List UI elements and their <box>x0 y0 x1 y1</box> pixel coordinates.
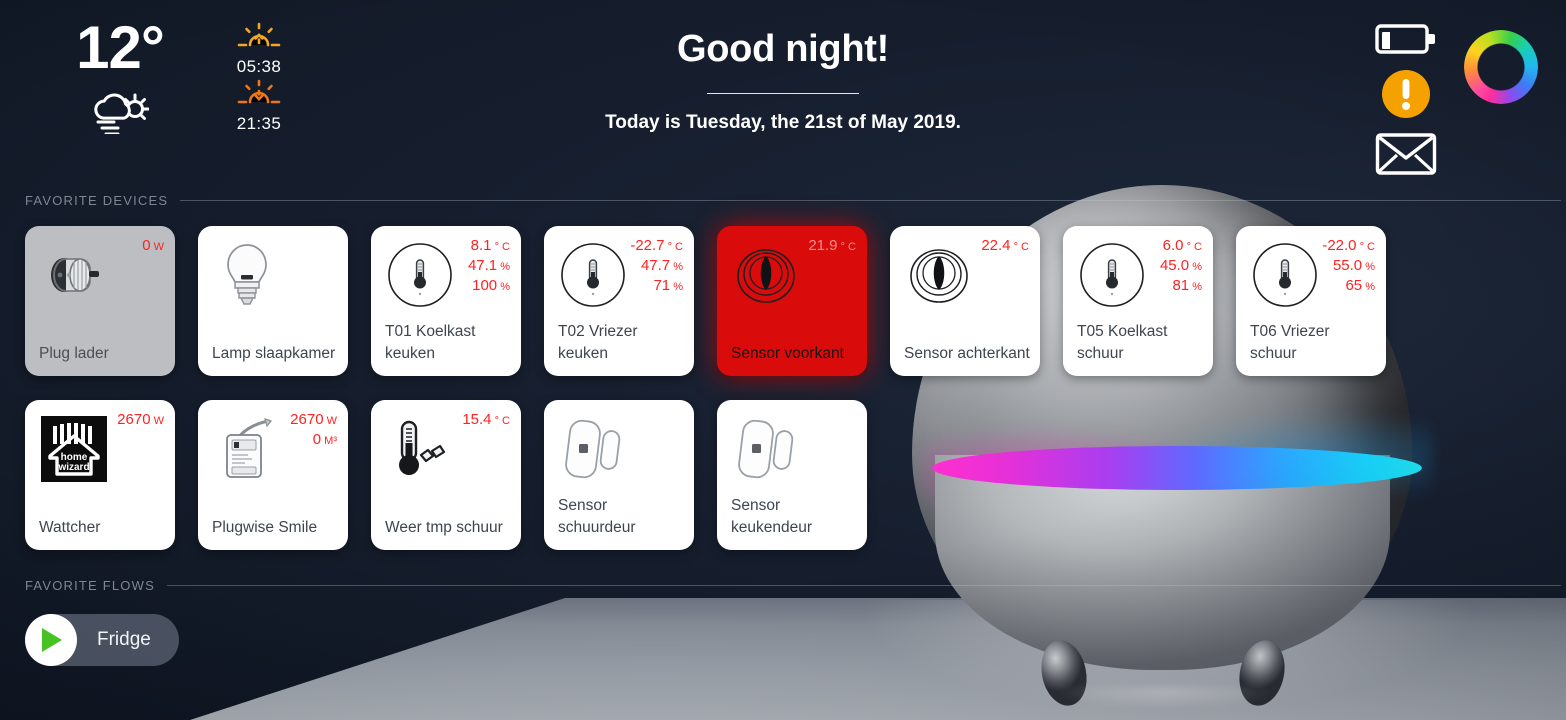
device-value: 0 M³ <box>290 430 337 450</box>
device-card-title: Sensor keukendeur <box>731 495 857 538</box>
favorite-devices-label: FAVORITE DEVICES <box>25 193 168 208</box>
device-value-unit: % <box>1362 281 1375 293</box>
favorite-devices-header: FAVORITE DEVICES <box>25 193 1561 208</box>
device-value: 71 % <box>630 276 683 296</box>
thermometer-icon <box>385 414 455 484</box>
device-value: 47.1 % <box>468 256 510 276</box>
dashboard-header: 12° <box>0 0 1566 188</box>
device-value-unit: % <box>1362 261 1375 273</box>
device-card-title: Lamp slaapkamer <box>212 343 338 364</box>
device-values: 8.1 ° C47.1 %100 % <box>468 236 510 295</box>
device-value: 2670 W <box>117 410 164 430</box>
device-card[interactable]: Lamp slaapkamer <box>198 226 348 376</box>
mail-icon[interactable] <box>1370 132 1442 176</box>
plugwise-smile-icon <box>212 414 282 484</box>
greeting-block: Good night! Today is Tuesday, the 21st o… <box>0 28 1566 134</box>
favorite-flows-header: FAVORITE FLOWS <box>25 578 1561 593</box>
device-value-unit: ° C <box>838 241 856 253</box>
device-card[interactable]: 22.4 ° CSensor achterkant <box>890 226 1040 376</box>
device-card-title: Wattcher <box>39 517 165 538</box>
device-card[interactable]: 6.0 ° C45.0 %81 %T05 Koelkast schuur <box>1063 226 1213 376</box>
homey-ring-logo-graphic <box>1464 30 1538 104</box>
favorite-devices-divider <box>180 200 1561 201</box>
motion-sensor-icon <box>731 240 801 310</box>
door-contact-sensor-icon <box>558 414 628 484</box>
device-values: 21.9 ° C <box>808 236 856 256</box>
device-value-unit: W <box>151 415 164 427</box>
thermometer-circle-icon <box>385 240 455 310</box>
device-values: 15.4 ° C <box>462 410 510 430</box>
device-value: 15.4 ° C <box>462 410 510 430</box>
device-value: 6.0 ° C <box>1160 236 1202 256</box>
device-card[interactable]: -22.0 ° C55.0 %65 %T06 Vriezer schuur <box>1236 226 1386 376</box>
device-card-title: Sensor voorkant <box>731 343 857 364</box>
device-value: 2670 W <box>290 410 337 430</box>
device-card-title: Sensor schuurdeur <box>558 495 684 538</box>
favorite-devices-row-2: home wizard 2670 WWattcher 2670 W0 M³Plu… <box>25 400 867 550</box>
device-card[interactable]: Sensor keukendeur <box>717 400 867 550</box>
device-value: 81 % <box>1160 276 1202 296</box>
device-card-title: T01 Koelkast keuken <box>385 321 511 364</box>
thermometer-circle-icon <box>1250 240 1320 310</box>
device-card[interactable]: 0 WPlug lader <box>25 226 175 376</box>
device-value-unit: % <box>670 281 683 293</box>
device-value-unit: ° C <box>1357 241 1375 253</box>
device-value-unit: ° C <box>1011 241 1029 253</box>
device-card[interactable]: 15.4 ° CWeer tmp schuur <box>371 400 521 550</box>
device-value: 47.7 % <box>630 256 683 276</box>
device-value: -22.7 ° C <box>630 236 683 256</box>
smart-plug-icon <box>39 240 109 310</box>
device-value-unit: % <box>670 261 683 273</box>
device-values: 22.4 ° C <box>981 236 1029 256</box>
device-card[interactable]: -22.7 ° C47.7 %71 %T02 Vriezer keuken <box>544 226 694 376</box>
device-value: -22.0 ° C <box>1322 236 1375 256</box>
greeting-divider <box>707 93 859 94</box>
play-icon[interactable] <box>25 614 77 666</box>
device-value: 22.4 ° C <box>981 236 1029 256</box>
light-bulb-icon <box>212 240 282 310</box>
greeting-title: Good night! <box>0 28 1566 71</box>
homewizard-logo-icon: home wizard <box>39 414 109 484</box>
homey-dashboard: 12° <box>0 0 1566 720</box>
device-value: 45.0 % <box>1160 256 1202 276</box>
device-value-unit: W <box>324 415 337 427</box>
device-card[interactable]: 2670 W0 M³Plugwise Smile <box>198 400 348 550</box>
thermometer-circle-icon <box>1077 240 1147 310</box>
device-card-title: Plugwise Smile <box>212 517 338 538</box>
device-values: 2670 W <box>117 410 164 430</box>
battery-icon[interactable] <box>1370 22 1442 56</box>
device-values: 2670 W0 M³ <box>290 410 337 450</box>
greeting-date: Today is Tuesday, the 21st of May 2019. <box>0 112 1566 134</box>
device-values: 0 W <box>142 236 164 256</box>
device-value-unit: % <box>1189 261 1202 273</box>
svg-text:wizard: wizard <box>57 462 89 473</box>
device-value: 0 W <box>142 236 164 256</box>
door-contact-sensor-icon <box>731 414 801 484</box>
device-value: 65 % <box>1322 276 1375 296</box>
device-card-title: T05 Koelkast schuur <box>1077 321 1203 364</box>
device-value: 21.9 ° C <box>808 236 856 256</box>
device-value: 55.0 % <box>1322 256 1375 276</box>
device-card[interactable]: home wizard 2670 WWattcher <box>25 400 175 550</box>
status-icon-stack <box>1370 22 1442 188</box>
device-value-unit: ° C <box>665 241 683 253</box>
device-values: -22.7 ° C47.7 %71 % <box>630 236 683 295</box>
thermometer-circle-icon <box>558 240 628 310</box>
flow-chip[interactable]: Fridge <box>25 614 179 666</box>
device-values: -22.0 ° C55.0 %65 % <box>1322 236 1375 295</box>
device-value-unit: % <box>497 261 510 273</box>
device-card-title: Plug lader <box>39 343 165 364</box>
device-value: 100 % <box>468 276 510 296</box>
favorite-flows-divider <box>167 585 1561 586</box>
favorite-devices-row-1: 0 WPlug lader Lamp slaapkamer 8.1 ° C47.… <box>25 226 1386 376</box>
device-card-title: Sensor achterkant <box>904 343 1030 364</box>
flow-label: Fridge <box>97 629 151 651</box>
device-value-unit: W <box>151 241 164 253</box>
motion-sensor-icon <box>904 240 974 310</box>
favorite-flows-row: Fridge <box>25 614 179 666</box>
warning-icon[interactable] <box>1370 68 1442 120</box>
device-card-title: T02 Vriezer keuken <box>558 321 684 364</box>
device-value-unit: % <box>497 281 510 293</box>
device-card-title: Weer tmp schuur <box>385 517 511 538</box>
device-value-unit: M³ <box>321 435 337 447</box>
device-value: 8.1 ° C <box>468 236 510 256</box>
favorite-flows-label: FAVORITE FLOWS <box>25 578 155 593</box>
device-values: 6.0 ° C45.0 %81 % <box>1160 236 1202 295</box>
device-value-unit: % <box>1189 281 1202 293</box>
device-card[interactable]: Sensor schuurdeur <box>544 400 694 550</box>
device-card[interactable]: 21.9 ° CSensor voorkant <box>717 226 867 376</box>
device-card-title: T06 Vriezer schuur <box>1250 321 1376 364</box>
device-value-unit: ° C <box>1184 241 1202 253</box>
homey-ring-logo[interactable] <box>1464 30 1538 104</box>
device-value-unit: ° C <box>492 241 510 253</box>
device-value-unit: ° C <box>492 415 510 427</box>
device-card[interactable]: 8.1 ° C47.1 %100 %T01 Koelkast keuken <box>371 226 521 376</box>
